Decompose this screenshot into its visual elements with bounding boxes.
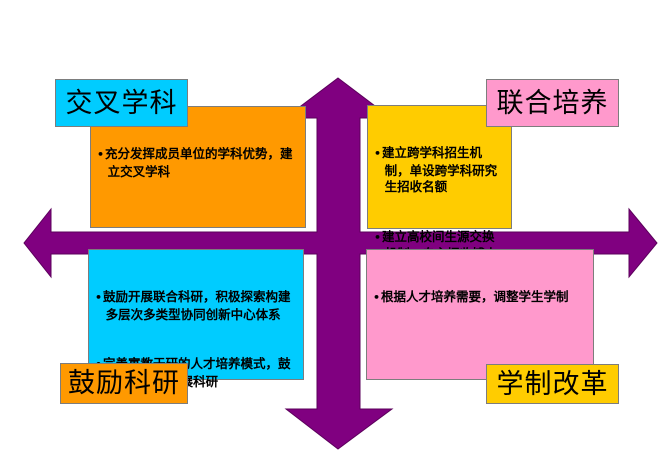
quadrant-content-research: 鼓励开展联合科研，积极探索构建多层次多类型协同创新中心体系 完善寓教于研的人才培… xyxy=(88,249,304,380)
quadrant-bullets-cross-discipline: 充分发挥成员单位的学科优势，建立交叉学科 xyxy=(97,113,300,213)
quadrant-label-cross-discipline: 交叉学科 xyxy=(55,79,188,127)
quadrant-bullets-reform: 根据人才培养需要，调整学生学制 xyxy=(373,256,588,340)
quadrant-label-research: 鼓励科研 xyxy=(60,363,188,404)
quadrant-content-reform: 根据人才培养需要，调整学生学制 xyxy=(366,249,594,380)
bullet-item: 建立跨学科招生机制，单设跨学科研究生招收名额 xyxy=(374,145,506,196)
bullet-item: 根据人才培养需要，调整学生学制 xyxy=(373,289,588,307)
quadrant-label-text: 学制改革 xyxy=(497,371,609,398)
quadrant-label-reform: 学制改革 xyxy=(486,364,619,404)
quadrant-label-joint-training: 联合培养 xyxy=(486,79,619,127)
quadrant-label-text: 鼓励科研 xyxy=(68,370,180,397)
quadrant-label-text: 交叉学科 xyxy=(66,90,178,117)
bullet-item: 鼓励开展联合科研，积极探索构建多层次多类型协同创新中心体系 xyxy=(95,289,298,323)
quadrant-label-text: 联合培养 xyxy=(497,90,609,117)
bullet-item: 充分发挥成员单位的学科优势，建立交叉学科 xyxy=(97,146,300,180)
slide-canvas: 充分发挥成员单位的学科优势，建立交叉学科 建立跨学科招生机制，单设跨学科研究生招… xyxy=(0,0,660,465)
